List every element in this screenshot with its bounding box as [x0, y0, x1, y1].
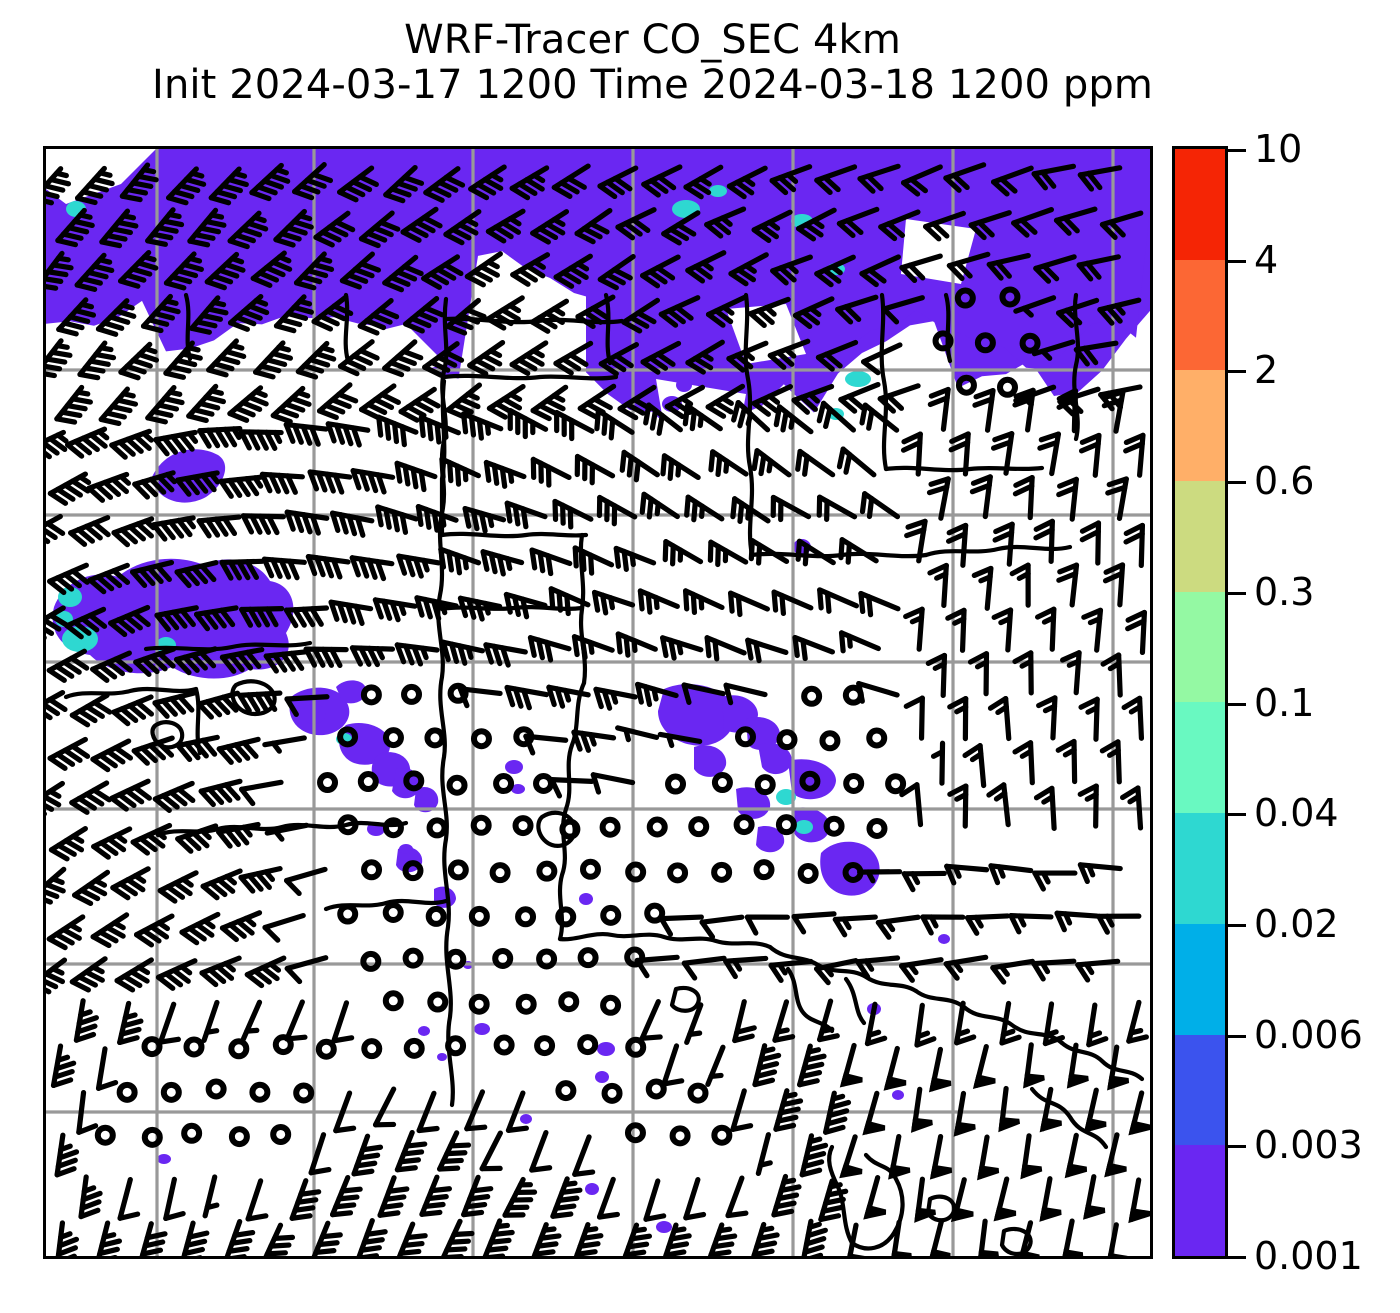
barb-full — [447, 1153, 465, 1154]
barb-full — [826, 409, 830, 426]
barb-full — [46, 974, 62, 982]
wind-barb — [398, 1224, 425, 1256]
barb-full — [778, 1117, 796, 1121]
barb-full — [46, 896, 50, 902]
wind-barb — [949, 525, 966, 565]
wind-barb-calm — [628, 1125, 643, 1140]
wind-barb — [94, 829, 130, 857]
barb-full — [105, 323, 122, 328]
barb-half — [192, 173, 202, 176]
plume-dot-5 — [579, 893, 593, 905]
wind-barb — [748, 640, 786, 660]
wind-barb-calm — [581, 950, 596, 965]
wind-barb — [199, 517, 239, 536]
barb-full — [320, 411, 337, 418]
barb-shaft — [733, 1091, 744, 1129]
barb-half — [791, 417, 793, 427]
barb-half — [298, 393, 307, 396]
calm-circle — [827, 819, 842, 834]
wind-barb — [154, 518, 194, 539]
calm-circle — [583, 862, 598, 877]
barb-half — [849, 636, 850, 646]
calm-circle — [430, 995, 445, 1010]
calm-circle — [144, 1039, 159, 1054]
barb-full — [133, 183, 151, 186]
wind-barb — [1035, 873, 1075, 889]
barb-full — [629, 1244, 647, 1247]
barb-full — [515, 506, 518, 524]
wind-barb — [81, 1177, 100, 1217]
barb-half — [632, 555, 633, 565]
wind-barb — [101, 389, 135, 423]
barb-half — [235, 173, 245, 176]
wind-barb-calm — [386, 905, 401, 920]
wind-barb — [121, 344, 156, 377]
barb-full — [556, 1206, 574, 1208]
barb-full — [404, 1152, 422, 1154]
calm-circle — [959, 378, 974, 393]
wind-barb — [380, 1178, 407, 1215]
barb-half — [205, 921, 213, 927]
colorbar-label-2: 2 — [1254, 351, 1278, 389]
barb-full — [826, 1199, 844, 1203]
wind-barb — [618, 728, 657, 740]
wind-barb — [221, 477, 261, 496]
colorbar-label-8: 0.006 — [1254, 1016, 1363, 1054]
plume-dot-18 — [505, 760, 523, 774]
barb-full — [428, 1197, 446, 1199]
wind-barb — [932, 1049, 950, 1088]
wind-barb — [76, 1001, 96, 1040]
barb-full — [316, 1251, 334, 1253]
wind-barb-calm — [496, 776, 511, 791]
barb-full — [600, 1214, 618, 1217]
barb-full — [421, 418, 423, 436]
barb-half — [720, 1229, 730, 1230]
wind-barb-calm — [779, 817, 794, 832]
wind-barb-calm — [363, 954, 378, 969]
barb-full — [85, 368, 103, 371]
wind-barb — [1039, 698, 1055, 738]
barb-full — [421, 472, 424, 490]
plume-accent-5 — [845, 371, 871, 387]
wind-barb — [728, 1178, 746, 1216]
colorbar-tick-10 — [1228, 1256, 1246, 1259]
wind-barb-calm — [231, 1041, 246, 1056]
wind-barb — [1108, 1135, 1126, 1174]
wind-barb — [80, 343, 114, 378]
barb-full — [863, 494, 865, 512]
calm-circle — [536, 776, 551, 791]
wind-barb — [241, 432, 281, 449]
barb-pennant — [933, 1168, 951, 1176]
wind-barb — [575, 1137, 593, 1174]
barb-full — [256, 372, 273, 377]
barb-shaft — [637, 957, 677, 960]
wind-barb — [262, 474, 302, 492]
plume-dot-7 — [520, 1114, 532, 1124]
wind-barb — [287, 958, 326, 982]
barb-half — [169, 214, 179, 216]
barb-half — [611, 598, 613, 608]
wind-barb — [946, 957, 985, 978]
wind-barb — [948, 610, 964, 650]
wind-barb — [596, 689, 635, 708]
plume-dot-14 — [597, 1042, 615, 1056]
barb-full — [673, 546, 674, 564]
colorbar-tick-2 — [1228, 370, 1246, 373]
wind-barb-calm — [737, 817, 752, 832]
barb-full — [282, 320, 299, 325]
barb-full — [646, 1216, 664, 1219]
calm-circle — [361, 774, 376, 789]
barb-half — [81, 1012, 90, 1015]
barb-half — [1047, 1032, 1056, 1035]
calm-circle — [406, 951, 421, 966]
wind-barb-calm — [427, 730, 442, 745]
plume-dot-21 — [399, 844, 413, 854]
chart-title: WRF-Tracer CO_SEC 4km Init 2024-03-17 12… — [0, 18, 1305, 108]
wind-barb — [1081, 699, 1097, 739]
wind-barb — [202, 958, 239, 984]
barb-half — [125, 1015, 135, 1018]
wind-barb-calm — [497, 1037, 512, 1052]
wind-barb — [1026, 1045, 1044, 1085]
wind-barb — [661, 917, 701, 934]
colorbar-tick-labels: 10420.60.30.10.040.020.0060.0030.001 — [1228, 146, 1378, 1259]
wind-barb — [422, 1177, 449, 1214]
barb-full — [839, 449, 843, 467]
wind-barb-calm — [691, 1086, 706, 1101]
barb-full — [666, 1252, 684, 1255]
barb-full — [220, 358, 237, 363]
barb-full — [507, 503, 510, 521]
barb-half — [188, 348, 198, 350]
barb-full — [663, 456, 664, 474]
wind-barb — [839, 449, 873, 475]
barb-full — [805, 546, 806, 564]
wind-barb-calm — [273, 1127, 288, 1142]
wind-barb — [443, 642, 482, 663]
barb-half — [656, 598, 657, 608]
calm-circle — [231, 1041, 246, 1056]
wind-barb — [906, 609, 922, 649]
barb-full — [236, 408, 253, 415]
barb-shaft — [859, 684, 897, 695]
wind-barb — [1043, 1089, 1061, 1128]
wind-barb — [1084, 610, 1101, 650]
calm-circle — [386, 730, 401, 745]
barb-full — [249, 397, 266, 404]
barb-full — [827, 593, 828, 611]
wind-barb — [141, 1224, 165, 1256]
barb-full — [486, 463, 488, 481]
wind-barb-calm — [296, 1085, 311, 1100]
barb-full — [616, 548, 618, 566]
wind-barb — [243, 1002, 259, 1039]
barb-half — [121, 477, 128, 484]
barb-half — [784, 1180, 794, 1182]
calm-circle — [561, 994, 576, 1009]
wind-barb — [287, 608, 327, 626]
wind-barb — [418, 507, 456, 531]
wind-barb — [440, 1133, 469, 1169]
barb-full — [670, 460, 671, 478]
barb-half — [442, 515, 443, 525]
barb-full — [166, 373, 184, 377]
wind-barb — [965, 746, 984, 786]
wind-barb — [134, 738, 172, 763]
wind-barb — [230, 388, 266, 420]
barb-full — [776, 407, 779, 425]
barb-full — [407, 1236, 425, 1238]
barb-full — [195, 410, 212, 414]
barb-shaft — [686, 1180, 698, 1218]
wind-barb — [622, 452, 657, 479]
barb-full — [774, 592, 776, 610]
title-line-1: WRF-Tracer CO_SEC 4km — [0, 18, 1305, 63]
barb-half — [1066, 914, 1070, 923]
barb-full — [46, 279, 61, 282]
barb-full — [733, 499, 735, 517]
barb-full — [553, 1214, 571, 1216]
barb-full — [464, 1212, 482, 1214]
barb-full — [363, 1147, 381, 1150]
barb-full — [624, 552, 626, 570]
wind-barb — [646, 1181, 664, 1219]
calm-circle — [364, 862, 379, 877]
barb-half — [465, 558, 466, 568]
barb-full — [580, 1244, 598, 1247]
barb-full — [508, 1128, 526, 1130]
calm-circle — [474, 818, 489, 833]
geo-boundary-26 — [606, 295, 610, 363]
wind-barb-calm — [429, 909, 444, 924]
barb-full — [274, 1237, 292, 1238]
barb-full — [383, 1205, 401, 1207]
barb-full — [862, 405, 865, 423]
barb-full — [450, 463, 451, 481]
wind-barb — [686, 1180, 704, 1218]
calm-circle — [404, 687, 419, 702]
wind-barb — [120, 1180, 138, 1219]
barb-full — [389, 1189, 407, 1191]
wind-barb-calm — [144, 1039, 159, 1054]
barb-full — [649, 499, 651, 517]
wind-barb — [199, 693, 238, 717]
barb-full — [292, 1216, 310, 1219]
barb-full — [59, 329, 76, 333]
barb-half — [912, 618, 921, 622]
barb-half — [488, 262, 497, 267]
barb-full — [803, 641, 805, 659]
barb-full — [715, 641, 717, 659]
wind-barb — [775, 1002, 793, 1040]
barb-pennant — [1068, 1166, 1086, 1174]
barb-full — [295, 1208, 313, 1211]
calm-circle — [184, 1126, 199, 1141]
barb-full — [387, 420, 389, 438]
wind-barb-calm — [670, 865, 685, 880]
barb-full — [429, 421, 431, 439]
barb-full — [362, 1248, 380, 1251]
barb-half — [918, 1033, 927, 1036]
barb-full — [394, 512, 397, 530]
barb-full — [652, 410, 655, 428]
barb-full — [422, 1212, 440, 1214]
wind-barb — [843, 1045, 862, 1084]
barb-full — [229, 1249, 247, 1252]
barb-shaft — [646, 1181, 658, 1219]
barb-full — [405, 466, 408, 484]
barb-half — [669, 736, 672, 746]
barb-half — [256, 301, 265, 305]
barb-full — [413, 469, 416, 487]
map-plot-area[interactable] — [43, 146, 1153, 1259]
calm-circle — [98, 1128, 113, 1143]
barb-half — [212, 391, 222, 393]
barb-full — [567, 596, 568, 614]
barb-half — [183, 879, 191, 885]
barb-half — [544, 1229, 554, 1230]
barb-full — [425, 1205, 443, 1207]
wind-barb — [1038, 609, 1054, 649]
barb-full — [629, 457, 631, 475]
barb-half — [144, 257, 154, 260]
barb-half — [981, 577, 990, 581]
barb-shaft — [482, 1133, 500, 1169]
wind-barb-calm — [715, 775, 730, 790]
wind-barb-calm — [340, 907, 355, 922]
calm-circle — [558, 1083, 573, 1098]
colorbar-band-7 — [1175, 924, 1225, 1035]
wind-barb — [557, 413, 592, 439]
barb-half — [320, 258, 330, 261]
wind-barb — [593, 775, 632, 792]
barb-full — [314, 322, 330, 329]
barb-full — [48, 272, 66, 275]
geo-boundary-19 — [926, 547, 1070, 555]
barb-half — [53, 879, 62, 883]
barb-half — [763, 1049, 773, 1051]
barb-half — [50, 791, 59, 796]
wind-barb — [222, 913, 259, 940]
wind-barb — [50, 739, 87, 768]
wind-barb-calm — [448, 952, 463, 967]
wind-barb-calm — [804, 689, 819, 704]
barb-shaft — [265, 916, 303, 928]
barb-full — [322, 1235, 340, 1237]
barb-half — [246, 918, 254, 924]
barb-pennant — [914, 1121, 932, 1129]
barb-full — [437, 424, 439, 442]
calm-circle — [276, 1037, 291, 1052]
wind-barb-calm — [450, 778, 465, 793]
calm-circle — [869, 821, 884, 836]
barb-full — [538, 1244, 556, 1246]
wind-barb — [265, 738, 304, 751]
calm-circle — [869, 730, 884, 745]
wind-barb — [794, 914, 834, 932]
barb-shaft — [593, 775, 632, 783]
barb-pennant — [893, 1253, 911, 1256]
wind-barb — [574, 732, 614, 750]
wind-barb — [1034, 961, 1074, 979]
wind-barb — [155, 693, 194, 716]
wind-barb — [526, 736, 566, 753]
wind-barb — [1068, 1135, 1086, 1174]
wind-barb — [378, 507, 416, 532]
calm-circle — [628, 865, 643, 880]
geo-boundary-2 — [444, 376, 616, 379]
barb-full — [57, 419, 75, 422]
wind-barb — [204, 1002, 217, 1040]
barb-full — [271, 1245, 289, 1246]
barb-half — [679, 643, 681, 653]
calm-circle — [581, 950, 596, 965]
barb-half — [445, 427, 446, 437]
barb-full — [479, 420, 481, 438]
wind-barb — [313, 1223, 341, 1256]
barb-half — [1003, 1031, 1012, 1034]
barb-pennant — [891, 1168, 909, 1176]
wind-barb — [776, 1091, 801, 1129]
calm-circle — [628, 1125, 643, 1140]
map-canvas — [46, 149, 1150, 1256]
wind-barb-calm — [495, 951, 510, 966]
wind-barb — [1043, 1179, 1061, 1218]
barb-half — [634, 640, 635, 650]
wind-barb — [89, 474, 128, 500]
barb-full — [201, 228, 219, 232]
wind-barb — [707, 638, 744, 659]
barb-half — [424, 560, 427, 569]
wind-barb — [532, 550, 570, 574]
barb-half — [300, 216, 310, 219]
barb-full — [235, 1233, 253, 1236]
barb-full — [402, 427, 404, 445]
barb-full — [153, 234, 171, 238]
barb-full — [364, 1240, 382, 1243]
barb-full — [707, 638, 709, 656]
barb-full — [820, 590, 821, 608]
wind-barb-calm — [184, 1126, 199, 1141]
barb-half — [144, 170, 154, 172]
wind-barb — [747, 917, 787, 933]
barb-full — [47, 359, 65, 362]
wind-barb — [842, 633, 879, 651]
barb-half — [958, 1031, 967, 1034]
wind-barb-calm — [430, 820, 445, 835]
calm-circle — [496, 776, 511, 791]
colorbar-tick-0 — [1228, 149, 1246, 152]
calm-circle — [562, 822, 577, 837]
wind-barb-calm — [537, 1038, 552, 1053]
barb-shaft — [467, 1092, 483, 1129]
barb-pennant — [980, 1168, 998, 1176]
wind-barb — [58, 1223, 77, 1256]
calm-circle — [145, 1130, 160, 1145]
barb-half — [232, 259, 241, 262]
wind-barb — [1059, 565, 1077, 605]
wind-barb-calm — [673, 1128, 688, 1143]
barb-pennant — [976, 1077, 994, 1085]
barb-pennant — [997, 1210, 1015, 1218]
barb-half — [1131, 1031, 1141, 1033]
calm-circle — [605, 1086, 620, 1101]
calm-circle — [691, 1086, 706, 1101]
wind-barb — [1015, 390, 1033, 430]
